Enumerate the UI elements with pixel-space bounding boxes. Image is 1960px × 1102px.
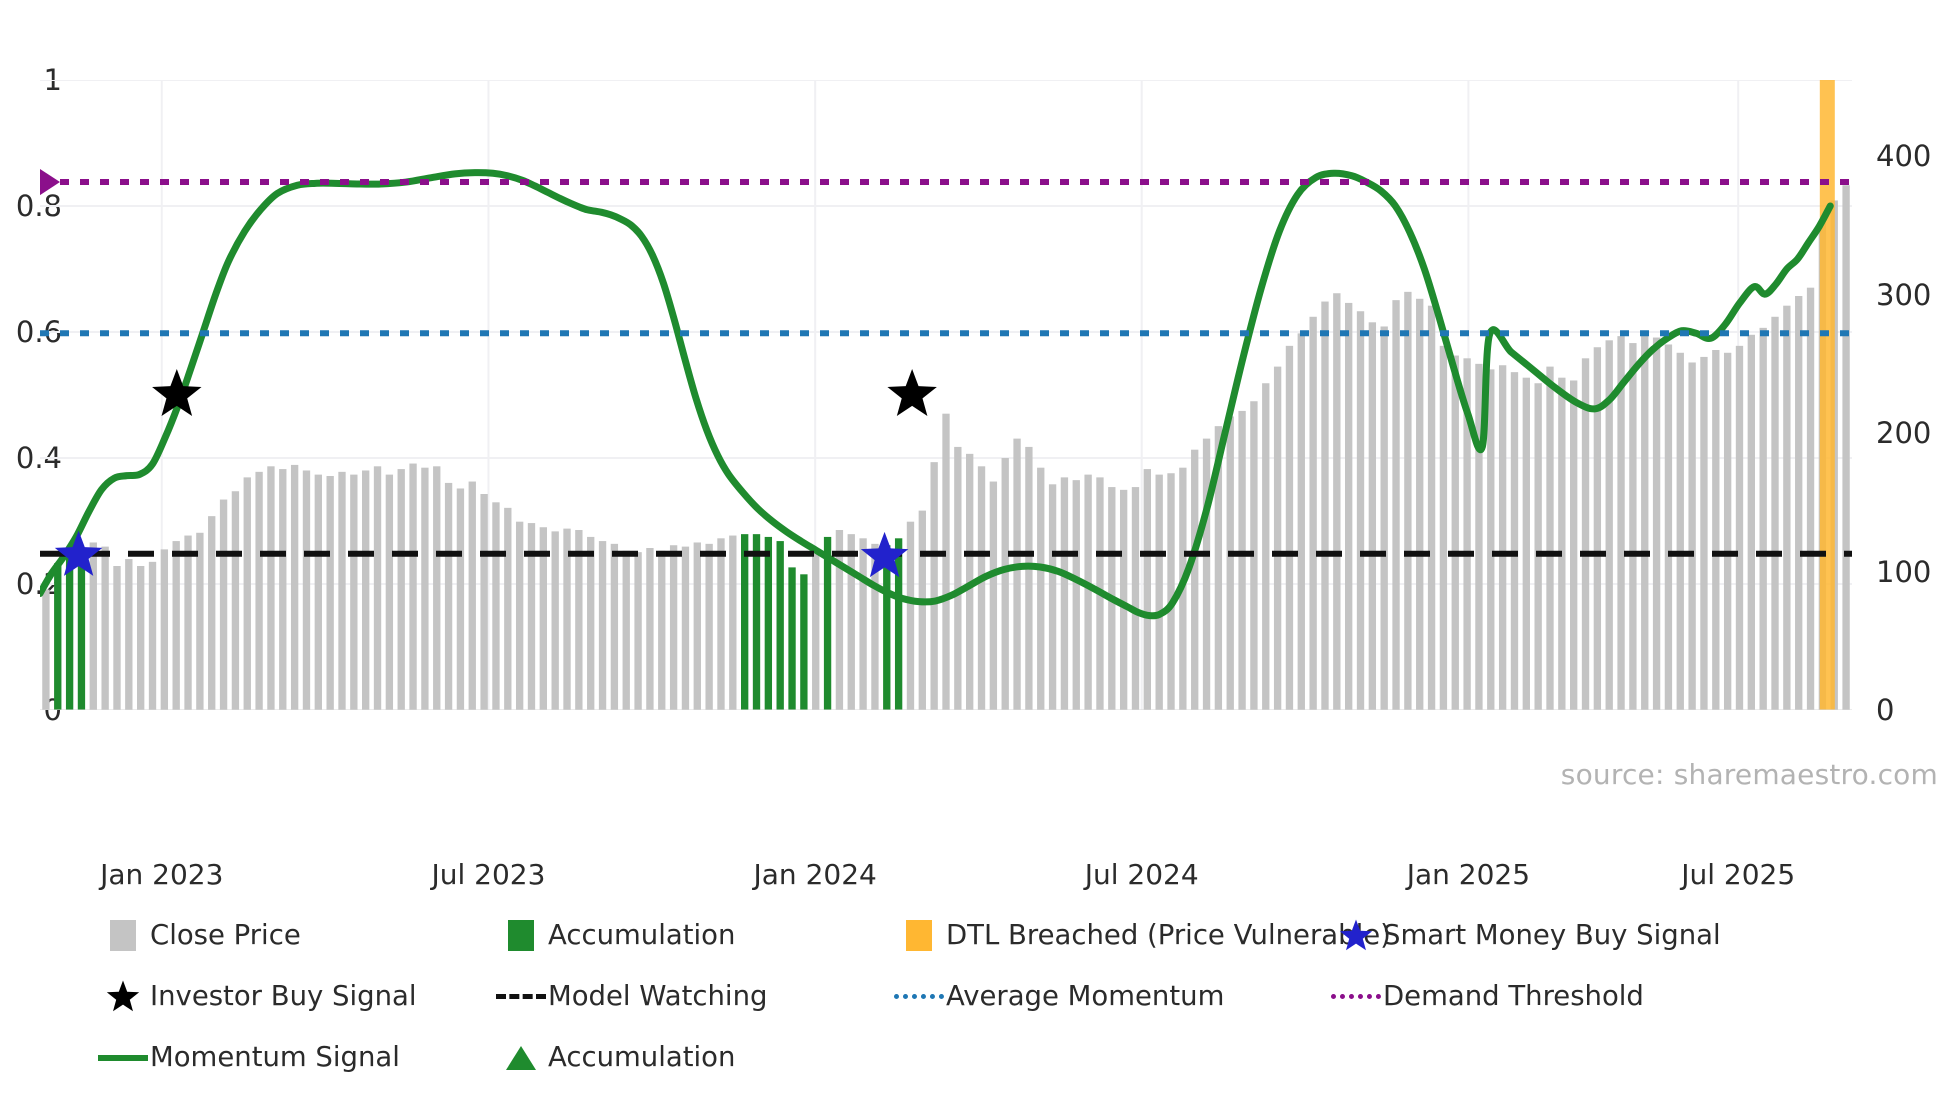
- close-price-bar: [1842, 185, 1849, 710]
- close-price-bar: [1440, 346, 1447, 710]
- close-price-bar: [954, 447, 961, 710]
- close-price-bar: [113, 566, 120, 710]
- close-price-bar: [682, 547, 689, 710]
- close-price-bar: [421, 468, 428, 710]
- close-price-bar: [1002, 458, 1009, 710]
- close-price-bar: [326, 476, 333, 710]
- close-price-bar: [398, 469, 405, 710]
- close-price-bar: [1700, 357, 1707, 710]
- close-price-bar: [1558, 378, 1565, 710]
- close-price-bar: [1286, 346, 1293, 710]
- legend-item-label: Model Watching: [548, 981, 767, 1012]
- close-price-bar: [42, 590, 49, 710]
- close-price-bar: [1570, 380, 1577, 710]
- plot-area: [40, 80, 1852, 710]
- close-price-bar: [1262, 383, 1269, 710]
- close-price-bar: [492, 502, 499, 710]
- model-watching-line-icon: [494, 981, 548, 1012]
- close-price-bar: [1392, 300, 1399, 710]
- close-price-bar: [1357, 311, 1364, 710]
- legend-item-label: Accumulation: [548, 1042, 735, 1073]
- close-price-bar: [1665, 344, 1672, 710]
- close-price-bar: [208, 516, 215, 710]
- dtl-breached-band: [1820, 80, 1835, 710]
- close-price-bar: [575, 530, 582, 710]
- close-price-bar: [469, 482, 476, 710]
- accumulation-bar: [788, 567, 795, 710]
- close-price-bar: [101, 547, 108, 710]
- close-price-bar: [1534, 383, 1541, 710]
- chart-root: 00.20.40.60.810100200300400Jan 2023Jul 2…: [0, 0, 1960, 1102]
- accumulation-swatch-icon: [494, 920, 548, 951]
- close-price-bar: [267, 466, 274, 710]
- close-price-bar: [1061, 477, 1068, 710]
- close-price-bar: [1677, 353, 1684, 710]
- close-price-bar: [552, 531, 559, 710]
- close-price-bar: [1712, 350, 1719, 710]
- close-price-bar: [1736, 346, 1743, 710]
- close-price-bar: [232, 491, 239, 710]
- close-price-bar: [291, 465, 298, 710]
- close-price-bar: [658, 551, 665, 710]
- close-price-bar: [504, 508, 511, 710]
- close-price-bar: [812, 554, 819, 710]
- accumulation-bar: [800, 574, 807, 710]
- close-price-bar: [1203, 439, 1210, 710]
- close-price-bar: [1309, 317, 1316, 710]
- close-price-swatch-icon: [96, 920, 150, 951]
- close-price-bar: [1771, 317, 1778, 710]
- legend-item-label: Momentum Signal: [150, 1042, 400, 1073]
- close-price-bar: [516, 522, 523, 710]
- accumulation-bar: [66, 556, 73, 710]
- close-price-bar: [1369, 322, 1376, 710]
- close-price-bar: [362, 470, 369, 710]
- legend-item-label: DTL Breached (Price Vulnerable): [946, 920, 1391, 951]
- accumulation-bar: [753, 534, 760, 710]
- demand-threshold-line-icon: [1329, 981, 1383, 1012]
- close-price-bar: [149, 562, 156, 710]
- close-price-bar: [480, 494, 487, 710]
- close-price-bar: [1013, 439, 1020, 710]
- close-price-bar: [1760, 328, 1767, 710]
- close-price-bar: [1546, 367, 1553, 710]
- close-price-bar: [1724, 353, 1731, 710]
- close-price-bar: [1416, 299, 1423, 710]
- accumulation-bar: [78, 562, 85, 710]
- close-price-bar: [1594, 347, 1601, 710]
- close-price-bar: [244, 477, 251, 710]
- y-axis-right-tick-label: 0: [1876, 693, 1956, 727]
- x-axis-tick-label: Jul 2023: [431, 858, 545, 891]
- legend-item[interactable]: DTL Breached (Price Vulnerable): [892, 920, 1329, 951]
- x-axis-tick-label: Jul 2025: [1681, 858, 1795, 891]
- close-price-bar: [386, 475, 393, 710]
- close-price-bar: [173, 541, 180, 710]
- dtl-breached-swatch-icon: [892, 920, 946, 951]
- legend-item-label: Accumulation: [548, 920, 735, 951]
- close-price-bar: [1487, 369, 1494, 710]
- chart-legend: Close PriceAccumulationDTL Breached (Pri…: [96, 920, 1946, 1102]
- close-price-bar: [836, 530, 843, 710]
- close-price-bar: [1641, 333, 1648, 710]
- investor-buy-signal-star[interactable]: [887, 369, 936, 416]
- close-price-bar: [1345, 303, 1352, 710]
- y-axis-right-tick-label: 400: [1876, 139, 1956, 173]
- close-price-bar: [1333, 293, 1340, 710]
- close-price-bar: [1404, 292, 1411, 710]
- close-price-bar: [409, 464, 416, 710]
- close-price-bar: [279, 469, 286, 710]
- close-price-bar: [445, 483, 452, 710]
- close-price-bar: [1227, 416, 1234, 710]
- legend-item-label: Average Momentum: [946, 981, 1224, 1012]
- close-price-bar: [717, 538, 724, 710]
- close-price-bar: [1132, 487, 1139, 710]
- close-price-bar: [1144, 469, 1151, 710]
- close-price-bar: [907, 522, 914, 710]
- close-price-bar: [587, 537, 594, 710]
- close-price-bar: [634, 552, 641, 710]
- close-price-bar: [1298, 333, 1305, 710]
- close-price-bar: [184, 536, 191, 710]
- accumulation-bar: [54, 563, 61, 710]
- momentum-signal-line-icon: [96, 1042, 150, 1073]
- accumulation-triangle-icon: [494, 1042, 548, 1073]
- close-price-bar: [125, 559, 132, 710]
- close-price-bar: [930, 462, 937, 710]
- close-price-bar: [1073, 480, 1080, 710]
- close-price-bar: [670, 545, 677, 710]
- close-price-bar: [1191, 450, 1198, 710]
- close-price-bar: [1321, 302, 1328, 710]
- legend-item-label: Smart Money Buy Signal: [1383, 920, 1721, 951]
- close-price-bar: [315, 475, 322, 710]
- close-price-bar: [1499, 365, 1506, 710]
- close-price-bar: [1025, 447, 1032, 710]
- close-price-bar: [350, 475, 357, 710]
- close-price-bar: [1156, 475, 1163, 710]
- close-price-bar: [137, 566, 144, 710]
- y-axis-right-tick-label: 200: [1876, 416, 1956, 450]
- close-price-bar: [599, 541, 606, 710]
- average-momentum-line-icon: [892, 981, 946, 1012]
- close-price-bar: [1795, 296, 1802, 710]
- legend-item[interactable]: Demand Threshold: [1329, 981, 1946, 1012]
- legend-item[interactable]: Model Watching: [494, 981, 892, 1012]
- close-price-bar: [859, 538, 866, 710]
- legend-item[interactable]: Smart Money Buy Signal: [1329, 920, 1946, 951]
- close-price-bar: [646, 548, 653, 710]
- accumulation-bar: [741, 534, 748, 710]
- y-axis-right-tick-label: 300: [1876, 278, 1956, 312]
- close-price-bar: [729, 536, 736, 710]
- plot-svg: [40, 80, 1852, 710]
- close-price-bar: [1274, 367, 1281, 710]
- close-price-bar: [1523, 378, 1530, 710]
- close-price-bar: [338, 472, 345, 710]
- close-price-bar: [196, 533, 203, 710]
- x-axis-tick-label: Jan 2025: [1407, 858, 1530, 891]
- legend-item-label: Demand Threshold: [1383, 981, 1644, 1012]
- close-price-bar: [611, 544, 618, 710]
- close-price-bar: [433, 466, 440, 710]
- close-price-bar: [255, 472, 262, 710]
- close-price-bar: [220, 500, 227, 710]
- legend-item[interactable]: Momentum Signal: [96, 1042, 494, 1073]
- close-price-bar: [990, 482, 997, 710]
- close-price-bar: [1037, 468, 1044, 710]
- close-price-bar: [457, 488, 464, 710]
- close-price-bar: [1452, 356, 1459, 710]
- legend-item-label: Investor Buy Signal: [150, 981, 417, 1012]
- close-price-bar: [1511, 372, 1518, 710]
- close-price-bar: [919, 511, 926, 710]
- close-price-bar: [1783, 306, 1790, 710]
- close-price-bar: [1629, 343, 1636, 710]
- close-price-bar: [1688, 362, 1695, 710]
- investor-buy-star-icon: [96, 981, 150, 1012]
- x-axis-tick-label: Jan 2024: [754, 858, 877, 891]
- close-price-bar: [1428, 306, 1435, 710]
- legend-item[interactable]: Average Momentum: [892, 981, 1329, 1012]
- legend-item-label: Close Price: [150, 920, 301, 951]
- accumulation-bar: [895, 538, 902, 710]
- legend-item[interactable]: Accumulation: [494, 920, 892, 951]
- close-price-bar: [1748, 335, 1755, 710]
- close-price-bar: [1084, 475, 1091, 710]
- close-price-bar: [303, 470, 310, 710]
- smart-money-buy-star-icon: [1329, 920, 1383, 951]
- legend-item[interactable]: Investor Buy Signal: [96, 981, 494, 1012]
- x-axis-tick-label: Jan 2023: [100, 858, 223, 891]
- close-price-bar: [1167, 473, 1174, 710]
- close-price-bar: [623, 551, 630, 710]
- close-price-bar: [942, 414, 949, 710]
- close-price-bar: [978, 466, 985, 710]
- close-price-bar: [1653, 338, 1660, 710]
- close-price-bar: [374, 466, 381, 710]
- close-price-bar: [161, 549, 168, 710]
- close-price-bar: [1238, 411, 1245, 710]
- demand-threshold-start-marker: [40, 165, 60, 199]
- close-price-bar: [694, 542, 701, 710]
- accumulation-bar: [765, 537, 772, 710]
- y-axis-right-tick-label: 100: [1876, 555, 1956, 589]
- close-price-bar: [705, 544, 712, 710]
- close-price-bars: [42, 185, 1850, 710]
- legend-item[interactable]: Accumulation: [494, 1042, 892, 1073]
- source-attribution: source: sharemaestro.com: [1561, 758, 1938, 791]
- legend-item[interactable]: Close Price: [96, 920, 494, 951]
- close-price-bar: [1381, 326, 1388, 710]
- x-axis-tick-label: Jul 2024: [1085, 858, 1199, 891]
- close-price-bar: [1049, 484, 1056, 710]
- close-price-bar: [848, 534, 855, 710]
- accumulation-bar: [777, 541, 784, 710]
- close-price-bar: [1807, 288, 1814, 710]
